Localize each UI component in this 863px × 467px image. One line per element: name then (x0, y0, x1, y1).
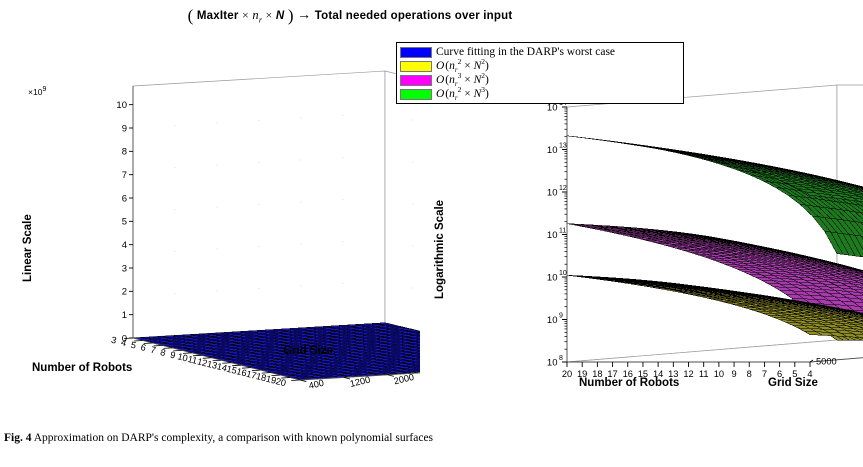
title-tail: Total needed operations over input (315, 10, 513, 22)
svg-text:8: 8 (122, 147, 127, 158)
legend-swatch-yellow (400, 61, 432, 72)
svg-text:20: 20 (275, 376, 287, 388)
svg-text:6: 6 (122, 193, 127, 204)
title-maxiter: MaxIter (197, 10, 239, 22)
legend: Curve fitting in the DARP's worst case O… (396, 42, 684, 104)
plot-linear-scale: ×109 Linear Scale Number of Robots Grid … (0, 24, 420, 414)
svg-text:7: 7 (149, 345, 156, 356)
title-times-2: × (266, 8, 273, 22)
svg-text:2: 2 (122, 287, 127, 298)
legend-swatch-blue (400, 47, 432, 58)
svg-text:10: 10 (116, 100, 127, 111)
legend-swatch-magenta (400, 75, 432, 86)
figure-root: ( MaxIter × nr × N ) → Total needed oper… (0, 0, 863, 467)
legend-swatch-green (400, 89, 432, 100)
title-nr: nr (252, 8, 262, 22)
svg-text:5: 5 (122, 217, 127, 228)
svg-text:4: 4 (122, 240, 127, 251)
svg-text:3: 3 (110, 335, 117, 346)
title-close-paren: ) (288, 6, 294, 25)
svg-text:6: 6 (140, 342, 147, 353)
svg-text:9: 9 (169, 350, 176, 361)
title-bigN: N (276, 10, 285, 22)
z-axis-label-right: Logarithmic Scale (434, 200, 446, 299)
figure-caption: Fig. 4 Approximation on DARP's complexit… (4, 432, 859, 444)
caption-label: Fig. 4 (4, 432, 31, 444)
svg-text:1: 1 (122, 310, 127, 321)
svg-text:8: 8 (159, 347, 166, 358)
figure-title: ( MaxIter × nr × N ) → Total needed oper… (0, 6, 700, 26)
y-axis-label-left: Grid Size (283, 345, 333, 357)
svg-text:9: 9 (122, 123, 127, 134)
legend-item-big-o-nr2-n3: O (nr2 × N3) (400, 87, 680, 101)
svg-text:400: 400 (308, 378, 325, 391)
title-times-1: × (242, 8, 249, 22)
svg-text:4: 4 (120, 337, 127, 348)
title-open-paren: ( (188, 6, 194, 25)
legend-label-big-o-nr2-n3: O (nr2 × N3) (436, 84, 489, 104)
z-axis-label-left: Linear Scale (22, 214, 34, 282)
svg-text:7: 7 (122, 170, 127, 181)
svg-text:3: 3 (122, 263, 127, 274)
svg-text:5: 5 (130, 340, 137, 351)
x-axis-label-left: Number of Robots (32, 362, 132, 374)
caption-text: Approximation on DARP's complexity, a co… (34, 432, 433, 444)
surface-canvas-left: 0123456789103456789101112131415161718192… (0, 24, 420, 414)
z-axis-exponent-multiplier: ×109 (28, 86, 46, 97)
title-arrow-icon: → (297, 6, 311, 22)
x-axis-label-right: Number of Robots (579, 377, 679, 389)
y-axis-label-right: Grid Size (768, 377, 818, 389)
